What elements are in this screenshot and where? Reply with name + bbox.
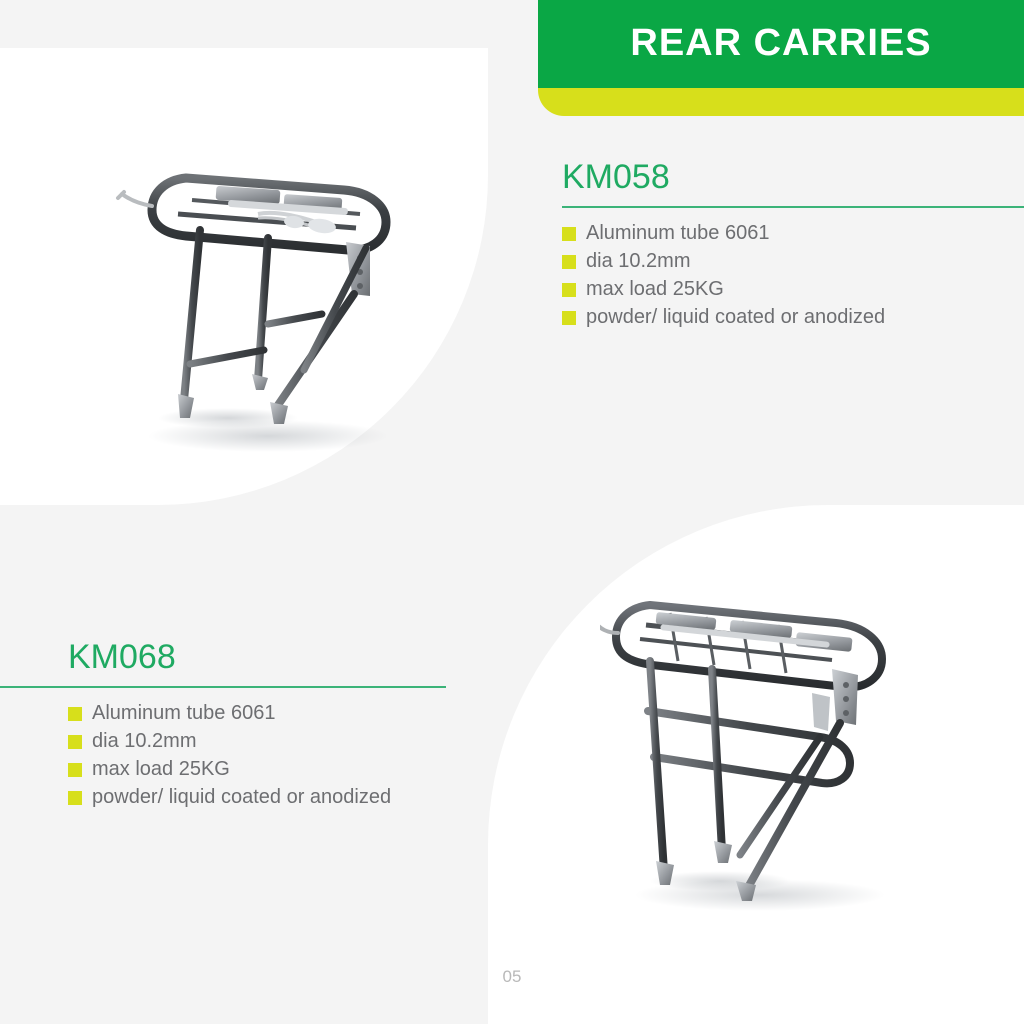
bullet-square-icon bbox=[68, 735, 82, 749]
bullet-square-icon bbox=[68, 707, 82, 721]
product-code-km058: KM058 bbox=[562, 160, 1024, 194]
bullet-square-icon bbox=[68, 763, 82, 777]
product-image-km068 bbox=[600, 565, 960, 915]
catalog-page: REAR CARRIES bbox=[0, 0, 1024, 1024]
product-code-km068: KM068 bbox=[68, 640, 446, 674]
spec-item: max load 25KG bbox=[68, 757, 446, 782]
bullet-square-icon bbox=[562, 283, 576, 297]
product-block-km068: KM068 Aluminum tube 6061 dia 10.2mm max … bbox=[0, 640, 446, 813]
title-divider-km068 bbox=[0, 686, 446, 688]
spec-item: Aluminum tube 6061 bbox=[68, 701, 446, 726]
page-title: REAR CARRIES bbox=[630, 24, 931, 64]
bullet-square-icon bbox=[562, 227, 576, 241]
spec-item: max load 25KG bbox=[562, 277, 1024, 302]
product-image-km058 bbox=[108, 118, 468, 458]
bullet-square-icon bbox=[68, 791, 82, 805]
spec-item: powder/ liquid coated or anodized bbox=[68, 785, 446, 810]
title-divider-km058 bbox=[562, 206, 1024, 208]
spec-item: dia 10.2mm bbox=[562, 249, 1024, 274]
spec-text: max load 25KG bbox=[586, 277, 724, 302]
spec-item: dia 10.2mm bbox=[68, 729, 446, 754]
bullet-square-icon bbox=[562, 311, 576, 325]
spec-item: Aluminum tube 6061 bbox=[562, 221, 1024, 246]
product-block-km058: KM058 Aluminum tube 6061 dia 10.2mm max … bbox=[562, 160, 1024, 333]
spec-item: powder/ liquid coated or anodized bbox=[562, 305, 1024, 330]
spec-text: dia 10.2mm bbox=[92, 729, 197, 754]
page-number: 05 bbox=[0, 968, 1024, 985]
spec-text: Aluminum tube 6061 bbox=[586, 221, 769, 246]
spec-text: Aluminum tube 6061 bbox=[92, 701, 275, 726]
header-accent-bar bbox=[538, 88, 1024, 116]
page-header-banner: REAR CARRIES bbox=[538, 0, 1024, 88]
spec-list-km058: Aluminum tube 6061 dia 10.2mm max load 2… bbox=[562, 221, 1024, 330]
bullet-square-icon bbox=[562, 255, 576, 269]
spec-text: max load 25KG bbox=[92, 757, 230, 782]
spec-list-km068: Aluminum tube 6061 dia 10.2mm max load 2… bbox=[68, 701, 446, 810]
spec-text: powder/ liquid coated or anodized bbox=[586, 305, 885, 330]
spec-text: powder/ liquid coated or anodized bbox=[92, 785, 391, 810]
spec-text: dia 10.2mm bbox=[586, 249, 691, 274]
